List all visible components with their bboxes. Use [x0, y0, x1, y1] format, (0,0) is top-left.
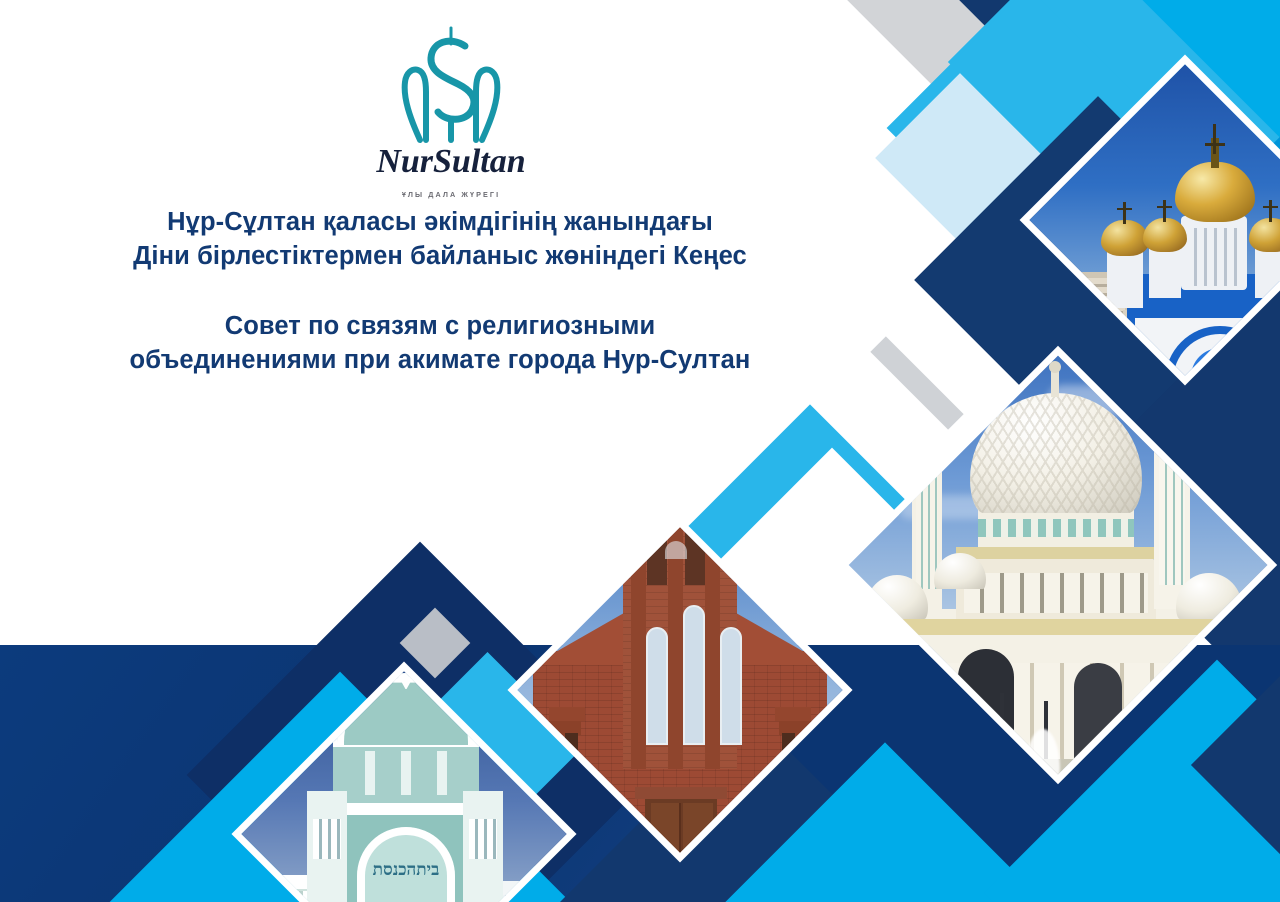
title-kk-line2: Діни бірлестіктермен байланыс жөніндегі … — [0, 239, 880, 273]
title-ru-line2: объединениями при акимате города Нур-Сул… — [0, 343, 880, 377]
nur-sultan-wordmark: NurSultan — [346, 140, 556, 182]
title-ru-line1: Совет по связям с религиозными — [0, 309, 880, 343]
title-kk: Нұр-Сұлтан қаласы әкімдігінің жанындағы … — [0, 205, 880, 273]
logo-tagline: ҰЛЫ ДАЛА ЖҮРЕГІ — [346, 190, 556, 199]
nur-sultan-logo: NurSultan ҰЛЫ ДАЛА ЖҮРЕГІ — [346, 22, 556, 197]
diamond-gray-stripe-mosque — [870, 336, 963, 429]
cover-canvas: ביתהכנסת — [0, 0, 1280, 902]
nur-sultan-monogram-icon — [346, 22, 556, 144]
svg-text:NurSultan: NurSultan — [375, 143, 525, 180]
title-ru: Совет по связям с религиозными объединен… — [0, 309, 880, 377]
title-block: Нұр-Сұлтан қаласы әкімдігінің жанындағы … — [0, 205, 880, 377]
title-kk-line1: Нұр-Сұлтан қаласы әкімдігінің жанындағы — [0, 205, 880, 239]
